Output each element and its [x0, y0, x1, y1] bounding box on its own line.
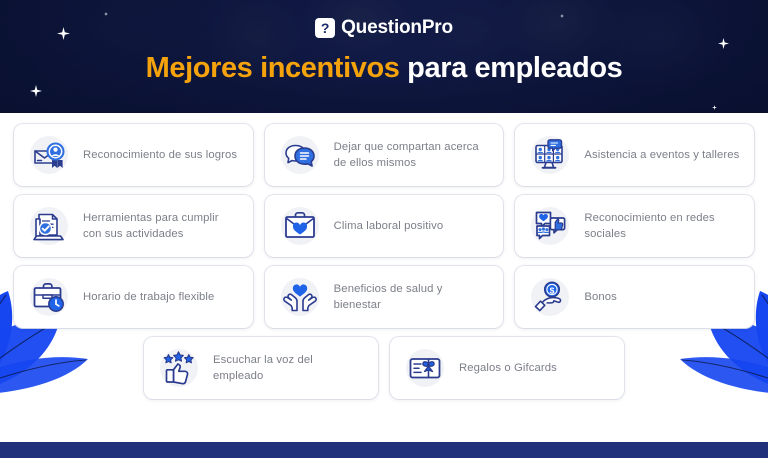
benefit-card-label: Escuchar la voz del empleado [213, 352, 364, 384]
infographic-poster: ? QuestionPro Mejores incentivos para em… [0, 0, 768, 458]
benefit-card-clima-laboral[interactable]: Clima laboral positivo [265, 195, 504, 257]
benefit-card-redes-sociales[interactable]: Reconocimiento en redes sociales [515, 195, 754, 257]
page-title-accent: Mejores incentivos [146, 52, 400, 84]
benefit-card-beneficios-salud[interactable]: Beneficios de salud y bienestar [265, 266, 504, 328]
benefit-card-label: Bonos [584, 289, 617, 305]
benefit-card-voz-empleado[interactable]: Escuchar la voz del empleado [144, 337, 378, 399]
gift-card-icon [402, 345, 448, 391]
header-banner: ? QuestionPro Mejores incentivos para em… [0, 0, 768, 113]
benefit-card-label: Reconocimiento en redes sociales [584, 210, 740, 242]
video-meeting-icon [527, 132, 573, 178]
benefits-row: Herramientas para cumplir con sus activi… [14, 195, 754, 257]
benefit-card-eventos-talleres[interactable]: Asistencia a eventos y talleres [515, 124, 754, 186]
benefit-card-label: Regalos o Gifcards [459, 360, 557, 376]
thumbs-up-stars-icon [156, 345, 202, 391]
benefit-card-label: Dejar que compartan acerca de ellos mism… [334, 139, 490, 171]
benefit-card-compartan-ellos-mismos[interactable]: Dejar que compartan acerca de ellos mism… [265, 124, 504, 186]
brand-logo: ? QuestionPro [0, 17, 768, 39]
svg-text:$: $ [550, 285, 555, 295]
benefit-card-reconocimiento-logros[interactable]: Reconocimiento de sus logros [14, 124, 253, 186]
social-media-like-icon [527, 203, 573, 249]
benefits-grid: Reconocimiento de sus logros Dejar que c… [14, 124, 754, 399]
benefit-card-bonos[interactable]: $ Bonos [515, 266, 754, 328]
benefit-card-label: Beneficios de salud y bienestar [334, 281, 490, 313]
logo-question-glyph: ? [321, 21, 330, 35]
benefits-row: Escuchar la voz del empleado [14, 337, 754, 399]
cards-area: Reconocimiento de sus logros Dejar que c… [0, 113, 768, 426]
benefit-card-label: Reconocimiento de sus logros [83, 147, 237, 163]
benefit-card-label: Horario de trabajo flexible [83, 289, 214, 305]
questionpro-logo-mark: ? [315, 18, 335, 38]
footer-bar [0, 442, 768, 458]
benefit-card-label: Asistencia a eventos y talleres [584, 147, 739, 163]
hands-heart-icon [277, 274, 323, 320]
benefit-card-horario-flexible[interactable]: Horario de trabajo flexible [14, 266, 253, 328]
brand-name: QuestionPro [341, 17, 453, 39]
hand-coin-icon: $ [527, 274, 573, 320]
benefits-row: Reconocimiento de sus logros Dejar que c… [14, 124, 754, 186]
page-title-plain: para empleados [400, 52, 623, 84]
benefit-card-label: Clima laboral positivo [334, 218, 444, 234]
briefcase-clock-icon [26, 274, 72, 320]
benefits-row: Horario de trabajo flexible Beneficios d… [14, 266, 754, 328]
benefit-card-herramientas-actividades[interactable]: Herramientas para cumplir con sus activi… [14, 195, 253, 257]
award-envelope-icon [26, 132, 72, 178]
benefit-card-label: Herramientas para cumplir con sus activi… [83, 210, 239, 242]
page-title: Mejores incentivos para empleados [0, 52, 768, 85]
chat-bubbles-icon [277, 132, 323, 178]
laptop-check-icon [26, 203, 72, 249]
benefit-card-regalos-gifcards[interactable]: Regalos o Gifcards [390, 337, 624, 399]
briefcase-heart-icon [277, 203, 323, 249]
